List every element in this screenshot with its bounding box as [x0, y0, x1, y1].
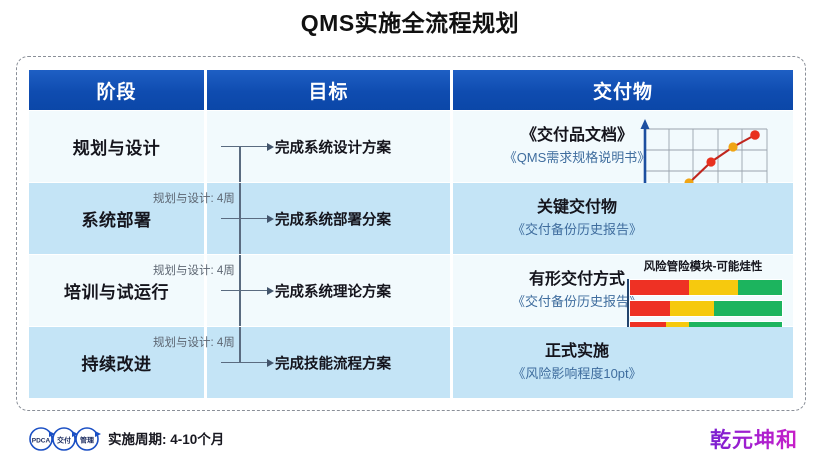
flow-arrow-head-icon	[267, 143, 274, 151]
cell-deliverable: 关键交付物 《交付备份历史报告》	[453, 183, 793, 254]
cell-stage: 规划与设计	[29, 111, 204, 182]
goal-label: 完成系统部署分案	[275, 208, 391, 229]
column-header-goal: 目标	[207, 70, 450, 110]
flow-arrow-shaft	[221, 290, 269, 292]
duration-label: 规划与设计: 4周	[153, 262, 235, 278]
duration-label: 规划与设计: 4周	[153, 334, 235, 350]
deliverable-main-label: 关键交付物	[512, 197, 642, 219]
svg-text:管理: 管理	[80, 436, 94, 445]
stage-label: 持续改进	[82, 350, 152, 375]
flow-connector-line	[239, 147, 241, 183]
cell-goal: 规划与设计: 4周 完成系统部署分案	[207, 183, 450, 254]
flow-arrow-head-icon	[267, 287, 274, 295]
table-row[interactable]: 规划与设计 完成系统设计方案 《交付品文档》 《QMS需求规格说明书》	[29, 111, 793, 182]
stage-label: 培训与试运行	[64, 278, 169, 303]
pdca-badges-svg: PDCA 交付 管理	[27, 426, 103, 452]
svg-text:交付: 交付	[57, 436, 71, 445]
flow-arrow-shaft	[221, 146, 269, 148]
flow-connector-line	[239, 327, 241, 363]
deliverable-sub-label: 《风险影响程度10pt》	[512, 364, 641, 384]
cell-deliverable: 正式实施 《风险影响程度10pt》	[453, 327, 793, 398]
stage-label: 规划与设计	[73, 134, 161, 159]
cell-goal: 完成系统设计方案	[207, 111, 450, 182]
page-title: QMS实施全流程规划	[0, 8, 820, 38]
stage-label: 系统部署	[82, 206, 152, 231]
flow-arrow-head-icon	[267, 215, 274, 223]
goal-label: 完成系统理论方案	[275, 280, 391, 301]
duration-label: 规划与设计: 4周	[153, 190, 235, 206]
svg-text:PDCA: PDCA	[32, 438, 51, 445]
risk-chart-title: 风险管险模块-可能烓性	[623, 259, 783, 275]
cell-goal: 规划与设计: 4周 完成系统理论方案	[207, 255, 450, 326]
deliverable-main-label: 正式实施	[512, 341, 641, 363]
cell-goal: 规划与设计: 4周 完成技能流程方案	[207, 327, 450, 398]
stacked-bar	[629, 279, 783, 296]
flow-arrow-shaft	[221, 362, 269, 364]
company-logo: 乾元坤和	[710, 424, 798, 454]
table-header-row: 阶段 目标 交付物	[29, 70, 793, 110]
column-header-stage: 阶段	[29, 70, 204, 110]
flow-arrow-shaft	[221, 218, 269, 220]
goal-label: 完成技能流程方案	[275, 352, 391, 373]
stacked-bar	[629, 300, 783, 317]
cell-deliverable: 有形交付方式 《交付备份历史报告》 风险管险模块-可能烓性	[453, 255, 793, 326]
pdca-cycle-icon: PDCA 交付 管理	[27, 426, 103, 452]
slide-root: QMS实施全流程规划 阶段 目标 交付物 规划与设计	[0, 0, 820, 461]
table-row[interactable]: 持续改进 规划与设计: 4周 完成技能流程方案 正式实施 《风险影响程度10pt…	[29, 327, 793, 398]
table-row[interactable]: 系统部署 规划与设计: 4周 完成系统部署分案 关键交付物 《交付备份历史报告》	[29, 183, 793, 254]
deliverable-sub-label: 《交付备份历史报告》	[512, 220, 642, 240]
column-header-deliverable: 交付物	[453, 70, 793, 110]
flow-arrow-head-icon	[267, 359, 274, 367]
implementation-period-label: 实施周期: 4-10个月	[108, 428, 224, 448]
process-table: 阶段 目标 交付物 规划与设计 完成系统设计方案	[29, 70, 793, 398]
goal-label: 完成系统设计方案	[275, 136, 391, 157]
y-axis-arrow-icon	[641, 119, 650, 129]
cell-deliverable: 《交付品文档》 《QMS需求规格说明书》	[453, 111, 793, 182]
table-body: 规划与设计 完成系统设计方案 《交付品文档》 《QMS需求规格说明书》	[29, 111, 793, 398]
table-row[interactable]: 培训与试运行 规划与设计: 4周 完成系统理论方案 有形交付方式 《交付备份历史…	[29, 255, 793, 326]
